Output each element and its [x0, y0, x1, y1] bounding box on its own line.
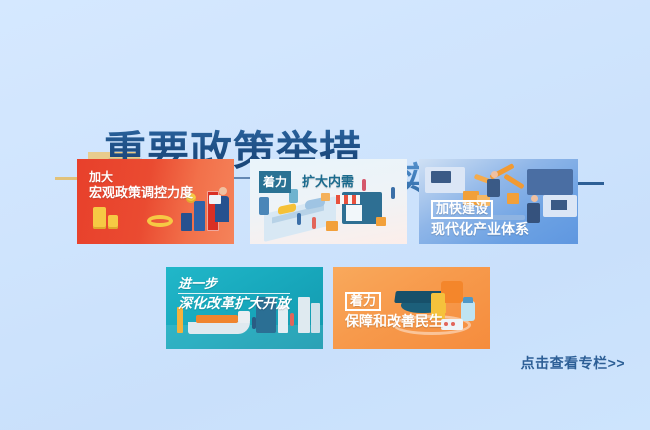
pedestrian-icon [297, 213, 301, 225]
card-label-industrial-system: 加快建设 现代化产业体系 [431, 199, 529, 238]
card-main-label: 现代化产业体系 [431, 221, 529, 239]
coin-ring-icon [147, 215, 173, 227]
card-label-macro-policy: 加大 宏观政策调控力度 [89, 170, 193, 202]
worker-head-icon [491, 171, 498, 178]
policy-measures-banner: 重要政策举措 及实施效果 加大 宏观政策调控力度 [0, 0, 650, 430]
card-label-peoples-livelihood: 着力 保障和改善民生 [345, 291, 443, 330]
card-main-label: 宏观政策调控力度 [89, 185, 193, 202]
card-top-label: 加大 [89, 170, 193, 185]
machine-screen-shape [551, 200, 567, 210]
card-reform-opening[interactable]: 进一步 深化改革扩大开放 [166, 267, 323, 349]
awning-shape [336, 195, 360, 204]
building-shape [311, 303, 320, 333]
card-peoples-livelihood[interactable]: 着力 保障和改善民生 [333, 267, 490, 349]
cargo-ship-hull-icon [188, 322, 250, 334]
pedestrian-icon [391, 187, 395, 199]
pill-icon [444, 322, 448, 326]
bottle-cap-icon [463, 297, 473, 303]
parcel-box-icon [321, 193, 330, 201]
pedestrian-icon [252, 317, 256, 329]
medicine-bottle-icon [461, 301, 475, 321]
store-window-shape [346, 205, 362, 221]
card-top-label-badge: 着力 [259, 171, 291, 193]
machine-screen-shape [431, 171, 451, 183]
card-main-label: 保障和改善民生 [345, 313, 443, 331]
card-main-label: 深化改革扩大开放 [178, 293, 290, 313]
card-domestic-demand[interactable]: 着力 扩大内需 [250, 159, 407, 244]
view-column-link[interactable]: 点击查看专栏>> [521, 353, 625, 373]
coin-stack-icon [93, 207, 106, 229]
clipboard-icon [209, 195, 221, 204]
worker-body-icon [487, 179, 500, 197]
worker-head-icon [531, 195, 538, 202]
card-top-label: 进一步 [178, 276, 290, 293]
pill-icon [451, 322, 455, 326]
building-shape [298, 297, 310, 333]
card-label-reform-opening: 进一步 深化改革扩大开放 [178, 276, 290, 313]
robot-arm-icon [503, 174, 524, 190]
ship-bridge-icon [238, 311, 250, 323]
cargo-containers-icon [196, 315, 238, 323]
coin-stack-small-icon [108, 215, 118, 229]
card-top-label: 着力 [345, 292, 381, 311]
card-main-label: 扩大内需 [302, 174, 354, 189]
bar-chart-bar [194, 201, 205, 231]
card-label-domestic-demand: 扩大内需 [302, 172, 354, 192]
machine-shape [527, 169, 573, 195]
card-top-label: 加快建设 [431, 200, 493, 219]
card-macro-policy[interactable]: 加大 宏观政策调控力度 [77, 159, 234, 244]
parcel-box-icon [326, 221, 338, 231]
kiosk-shape [259, 197, 269, 215]
bar-chart-bar [181, 213, 192, 231]
pedestrian-icon [362, 179, 366, 191]
card-industrial-system[interactable]: 加快建设 现代化产业体系 [419, 159, 578, 244]
parcel-box-icon [376, 217, 386, 226]
person-head-icon [219, 187, 227, 195]
banner-title-area: 重要政策举措 及实施效果 [0, 58, 650, 148]
card-top-label: 着力 [263, 175, 287, 189]
pedestrian-icon [312, 217, 316, 229]
pedestrian-icon [290, 313, 294, 326]
